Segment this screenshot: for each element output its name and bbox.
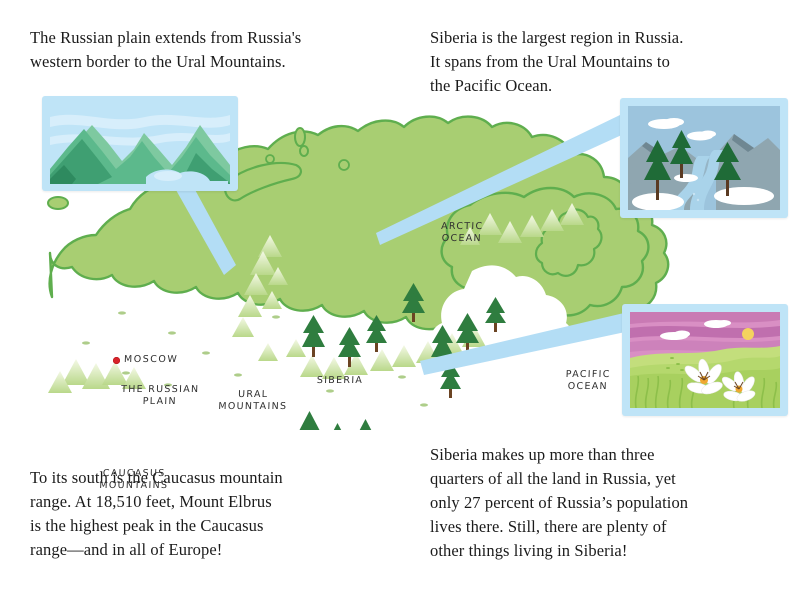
inset-photo-frame xyxy=(628,106,780,210)
plain-scene-svg xyxy=(50,103,230,184)
snow-patch xyxy=(714,187,774,205)
meadow-scene-svg xyxy=(630,312,780,408)
map-label-pacific-ocean: Pacific Ocean xyxy=(560,369,617,393)
moscow-city-dot xyxy=(113,357,120,364)
map-label-moscow: Moscow xyxy=(124,354,179,366)
pine-tree xyxy=(354,419,377,430)
inset-photo-russian-plain xyxy=(42,96,238,191)
island-small-3 xyxy=(300,146,308,156)
island-small-4 xyxy=(266,155,274,163)
river-speck xyxy=(693,193,695,195)
paragraph-russian-plain: The Russian plain extends from Russia's … xyxy=(30,26,420,74)
pine-tree xyxy=(298,411,321,430)
paragraph-siberia-facts: Siberia makes up more than three quarter… xyxy=(430,443,790,563)
inset-photo-frame xyxy=(50,103,230,184)
snow-patch xyxy=(674,174,698,182)
inset-photo-siberia-winter xyxy=(620,98,788,218)
cloud xyxy=(674,331,690,338)
page-root: The Russian plain extends from Russia's … xyxy=(0,0,800,600)
map-label-siberia: Siberia xyxy=(310,375,370,387)
cloud xyxy=(700,131,716,138)
island-small-2 xyxy=(295,128,305,146)
siberia-scene-svg xyxy=(628,106,780,210)
cloud xyxy=(664,118,684,126)
sky-band-2 xyxy=(630,326,780,338)
map-label-ural-mountains: Ural Mountains xyxy=(218,389,289,413)
map-label-russian-plain: The Russian Plain xyxy=(112,384,209,408)
cloud xyxy=(717,320,731,326)
island-small-5 xyxy=(339,160,349,170)
sun xyxy=(742,328,754,340)
paragraph-caucasus: To its south is the Caucasus mountain ra… xyxy=(30,466,420,562)
river-highlight xyxy=(154,171,182,181)
inset-photo-siberia-meadow xyxy=(622,304,788,416)
map-label-arctic-ocean: Arctic Ocean xyxy=(432,221,493,245)
island-small-1 xyxy=(48,197,68,209)
inset-photo-frame xyxy=(630,312,780,408)
pine-tree xyxy=(302,315,325,357)
pine-tree xyxy=(326,423,349,430)
river-speck xyxy=(697,199,699,201)
map-label-caucasus-mountains: Caucasus Mountains xyxy=(95,468,174,492)
